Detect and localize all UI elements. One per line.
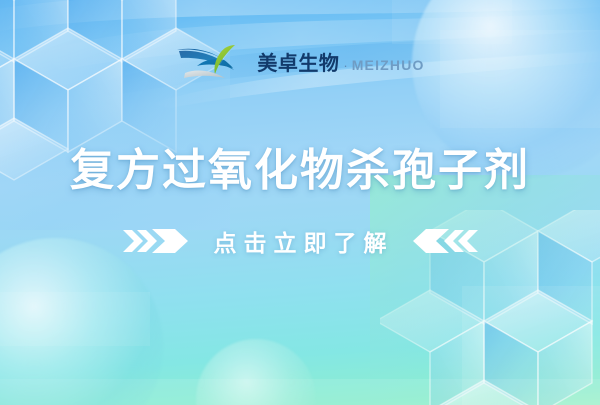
brand-wordmark: 美卓生物 · MEIZHUO (257, 47, 424, 76)
cubes-fade-bottom-right (370, 175, 600, 405)
cta-button[interactable]: 点击立即了解 (0, 224, 600, 258)
promo-banner[interactable]: 美卓生物 · MEIZHUO 复方过氧化物杀孢子剂 点击立即了解 (0, 0, 600, 405)
decor-panel (0, 292, 150, 346)
brand-name-en: MEIZHUO (352, 57, 425, 73)
decor-panel (462, 286, 600, 405)
soft-sphere-bottom-middle (196, 339, 316, 405)
decor-panel (392, 0, 512, 44)
meizhuo-swoosh-leaf-logo-icon (175, 40, 249, 82)
decor-panel (0, 379, 600, 405)
double-chevron-right-arrow-icon (123, 227, 189, 255)
brand-name-cn: 美卓生物 (257, 47, 339, 76)
brand-logo[interactable]: 美卓生物 · MEIZHUO (0, 40, 600, 82)
headline-title: 复方过氧化物杀孢子剂 (0, 146, 600, 196)
soft-sphere-bottom-left (0, 238, 163, 405)
double-chevron-left-arrow-icon (412, 227, 478, 255)
brand-separator: · (343, 58, 347, 73)
cta-label: 点击立即了解 (207, 224, 394, 258)
